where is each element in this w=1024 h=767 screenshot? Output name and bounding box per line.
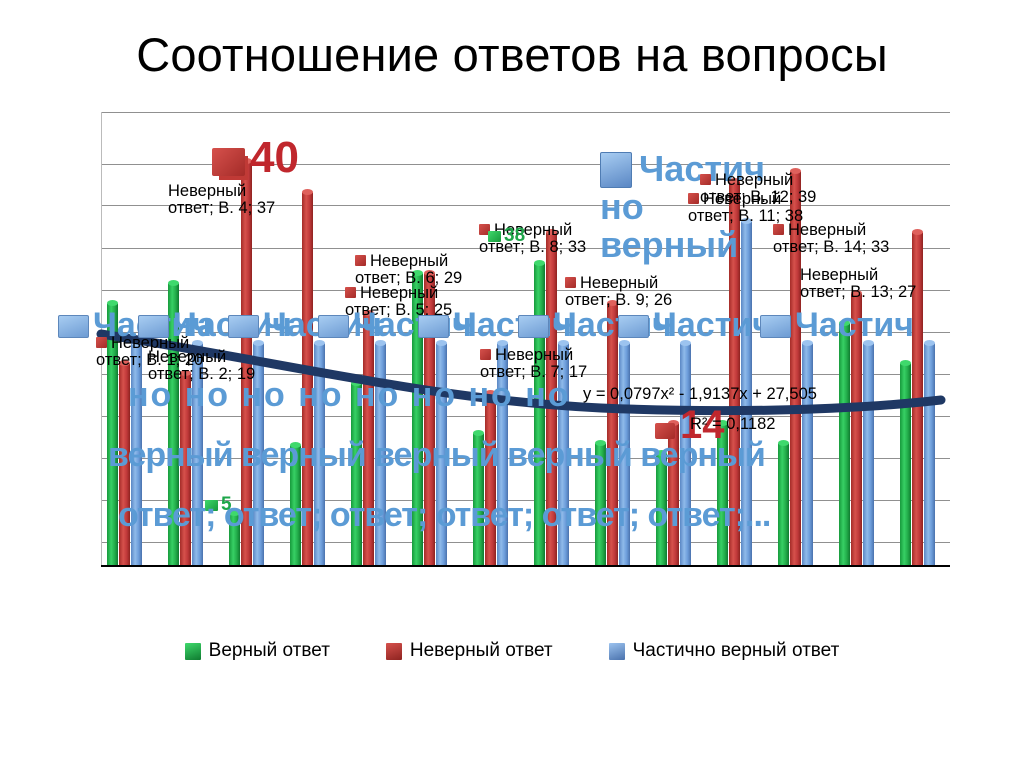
trendline-equation: y = 0,0797x² - 1,9137x + 27,505 bbox=[583, 385, 817, 404]
blue-swatch-icon bbox=[609, 643, 625, 660]
blue-swatch-icon bbox=[518, 315, 549, 338]
page-title: Соотношение ответов на вопросы bbox=[0, 30, 1024, 79]
legend-label: Частично верный ответ bbox=[633, 640, 840, 662]
legend-item-neverny: Неверный ответ bbox=[386, 640, 553, 662]
datalabel-n14: Неверный ответ; В. 14; 33 bbox=[773, 205, 889, 256]
red-swatch-icon bbox=[773, 224, 784, 235]
datalabel-n13: Неверный ответ; В. 13; 27 bbox=[800, 250, 916, 301]
datalabel-blue-verny-row: верный верный верный верный верный bbox=[108, 438, 765, 472]
blue-swatch-icon bbox=[618, 315, 649, 338]
datalabel-green-38: 38 bbox=[488, 226, 525, 245]
red-swatch-icon bbox=[355, 255, 366, 266]
chart-container: 40 Частич но верный Неверный ответ; В. 4… bbox=[0, 100, 1024, 600]
legend-label: Неверный ответ bbox=[410, 640, 553, 662]
blue-swatch-icon bbox=[418, 315, 449, 338]
blue-swatch-icon bbox=[228, 315, 259, 338]
trendline-r-squared: R² = 0,1182 bbox=[690, 415, 775, 434]
red-swatch-icon bbox=[386, 643, 402, 660]
red-swatch-icon bbox=[345, 287, 356, 298]
legend-item-verny: Верный ответ bbox=[185, 640, 330, 662]
green-swatch-icon bbox=[488, 231, 501, 242]
datalabel-blue-row-7: Частич bbox=[618, 308, 772, 342]
red-swatch-icon bbox=[688, 193, 699, 204]
red-swatch-icon bbox=[480, 349, 491, 360]
slide-root: Соотношение ответов на вопросы bbox=[0, 0, 1024, 767]
blue-swatch-icon bbox=[318, 315, 349, 338]
datalabel-n9: Неверный ответ; В. 9; 26 bbox=[565, 258, 672, 309]
datalabel-blue-no-row: но но но но но но но но bbox=[128, 378, 571, 412]
blue-swatch-icon bbox=[58, 315, 89, 338]
red-swatch-icon bbox=[565, 277, 576, 288]
blue-swatch-icon bbox=[600, 152, 632, 188]
blue-swatch-icon bbox=[138, 315, 169, 338]
datalabel-blue-otvet-row: ответ; ответ; ответ; ответ; ответ; ответ… bbox=[118, 498, 770, 532]
green-swatch-icon bbox=[185, 643, 201, 660]
legend-label: Верный ответ bbox=[209, 640, 330, 662]
chart-legend: Верный ответ Неверный ответ Частично вер… bbox=[0, 640, 1024, 662]
datalabel-n4: Неверный ответ; В. 4; 37 bbox=[168, 166, 275, 217]
legend-item-chastichno: Частично верный ответ bbox=[609, 640, 840, 662]
datalabel-blue-row-8: Частич bbox=[760, 308, 914, 342]
blue-swatch-icon bbox=[760, 315, 791, 338]
